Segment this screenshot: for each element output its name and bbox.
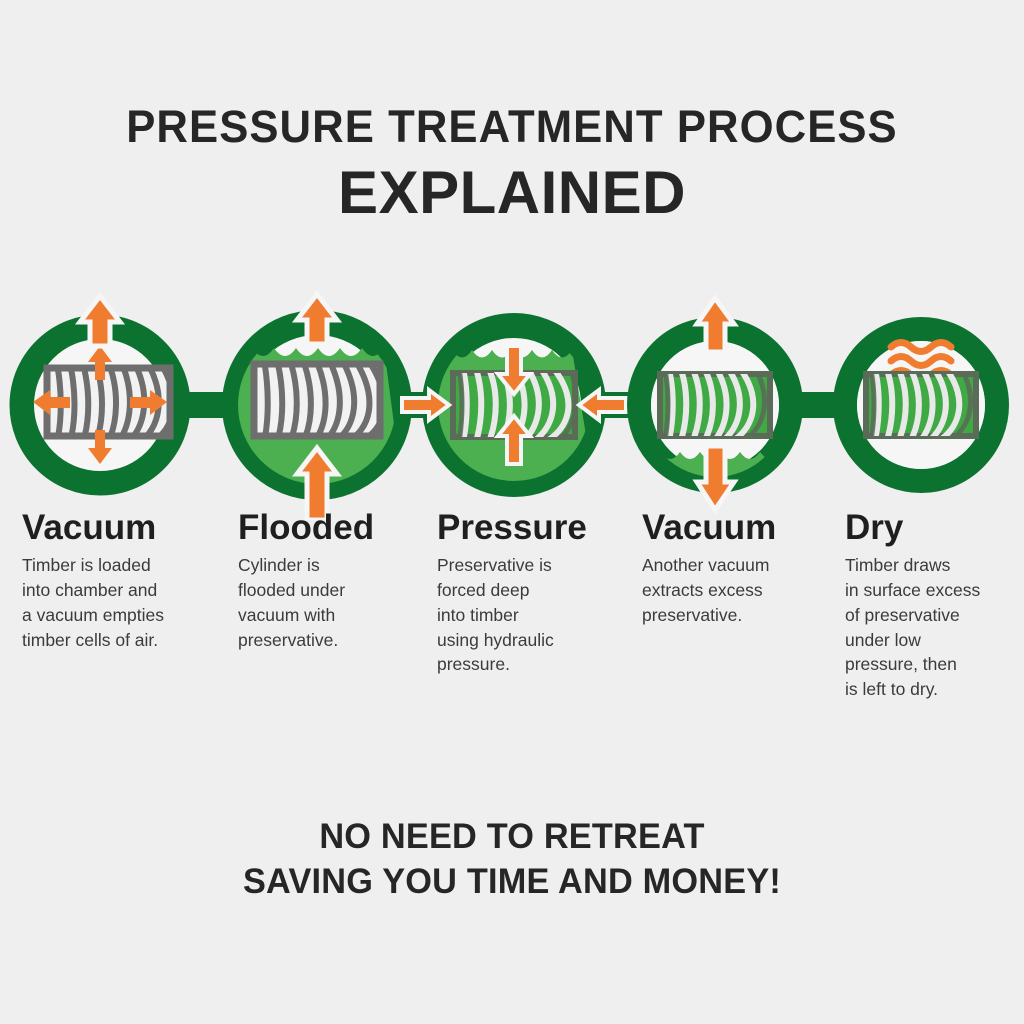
tagline-line1: NO NEED TO RETREAT (10, 815, 1014, 860)
process-diagram (0, 290, 1024, 520)
page-title-line1: PRESSURE TREATMENT PROCESS (15, 104, 1008, 149)
step-item-pressure: Pressure Preservative is forced deep int… (437, 510, 632, 677)
step-description: Preservative is forced deep into timber … (437, 553, 632, 677)
step-title: Pressure (437, 510, 632, 545)
step-title: Vacuum (22, 510, 227, 545)
steps-list: Vacuum Timber is loaded into chamber and… (0, 510, 1024, 720)
tagline-line2: SAVING YOU TIME AND MONEY! (10, 860, 1014, 905)
header: PRESSURE TREATMENT PROCESS EXPLAINED (0, 0, 1024, 223)
stage-5-dry (845, 329, 997, 481)
footer-tagline: NO NEED TO RETREAT SAVING YOU TIME AND M… (0, 815, 1024, 905)
step-description: Cylinder is flooded under vacuum with pr… (238, 553, 428, 652)
step-description: Another vacuum extracts excess preservat… (642, 553, 832, 628)
step-item-vacuum-1: Vacuum Timber is loaded into chamber and… (22, 510, 227, 652)
step-item-flooded: Flooded Cylinder is flooded under vacuum… (238, 510, 428, 652)
step-description: Timber is loaded into chamber and a vacu… (22, 553, 227, 652)
step-item-vacuum-2: Vacuum Another vacuum extracts excess pr… (642, 510, 832, 628)
step-item-dry: Dry Timber draws in surface excess of pr… (845, 510, 1024, 702)
stage-1-vacuum (22, 296, 178, 483)
stage-3-pressure (402, 326, 626, 496)
step-description: Timber draws in surface excess of preser… (845, 553, 1024, 702)
stage-2-flooded (230, 294, 404, 520)
page-title-line2: EXPLAINED (0, 163, 1024, 223)
stage-4-vacuum (639, 298, 795, 510)
step-title: Dry (845, 510, 1024, 545)
step-title: Flooded (238, 510, 428, 545)
step-title: Vacuum (642, 510, 832, 545)
stage-2-timber-block (254, 360, 384, 442)
stage-4-timber-block-treated (660, 370, 770, 440)
stage-5-timber-block-treated (866, 370, 976, 440)
